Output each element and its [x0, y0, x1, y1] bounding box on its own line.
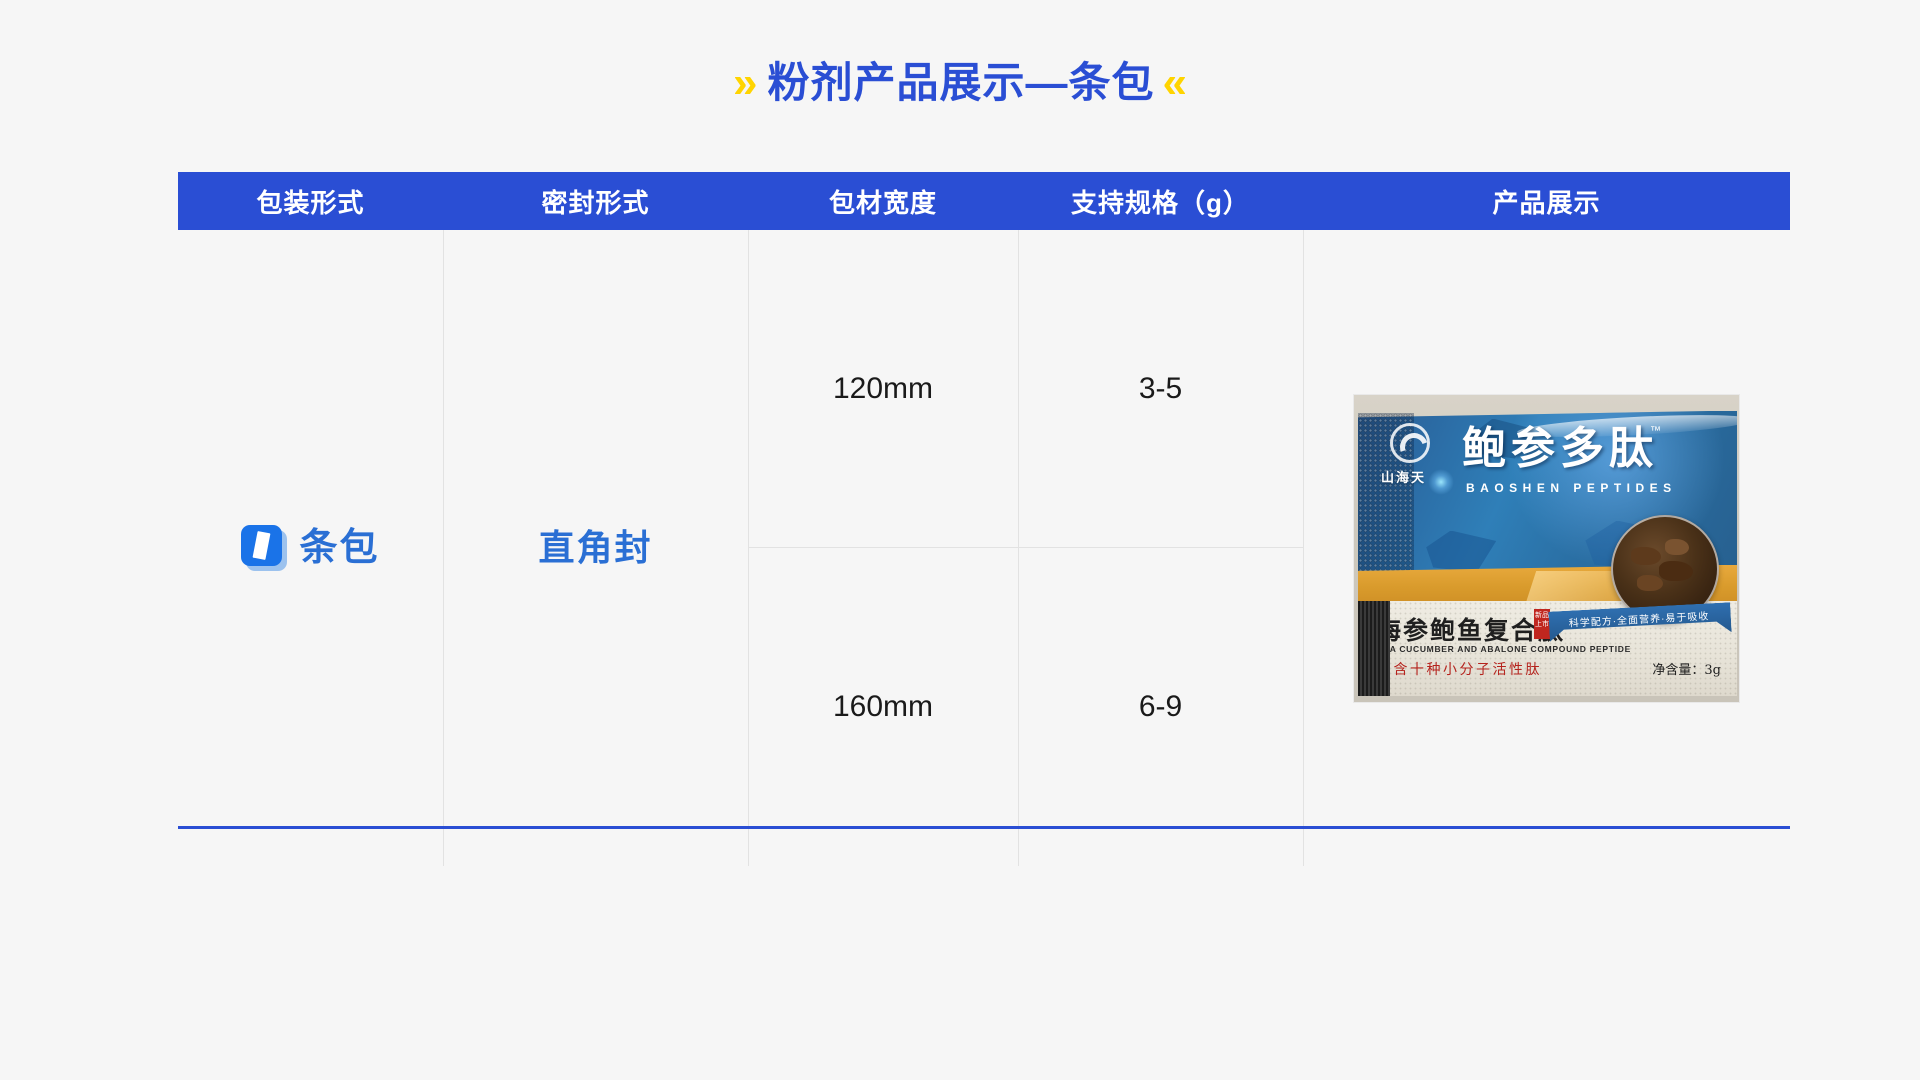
table-cell-product-display: 山海天 鲍参多肽 ™ BAOSHEN PEPTIDES 海参鲍鱼复合肽 新品上市 — [1303, 230, 1790, 866]
product-subtitle-en: SEA CUCUMBER AND ABALONE COMPOUND PEPTID… — [1377, 644, 1631, 654]
table-row: 3-5 — [1018, 230, 1303, 548]
spec-table: 包装形式 密封形式 包材宽度 支持规格（g） 产品展示 — [178, 172, 1790, 866]
tear-strip — [1358, 601, 1390, 696]
material-width-value-1: 120mm — [833, 374, 933, 404]
new-product-stamp: 新品上市 — [1534, 609, 1550, 639]
column-header-material-width: 包材宽度 — [748, 183, 1018, 220]
table-row: 6-9 — [1018, 548, 1303, 866]
product-name-en: BAOSHEN PEPTIDES — [1466, 481, 1677, 495]
table-row: 160mm — [748, 548, 1018, 866]
material-width-value-2: 160mm — [833, 692, 933, 722]
table-cell-material-width: 120mm 160mm — [748, 230, 1018, 866]
stick-pack-icon — [241, 525, 287, 571]
chevron-right-double-icon-left: » — [733, 61, 757, 105]
bottom-divider — [178, 826, 1790, 829]
net-weight-label: 净含量：3g — [1652, 659, 1721, 678]
table-row: 120mm — [748, 230, 1018, 548]
chevron-left-double-icon-right: « — [1163, 61, 1187, 105]
supported-grams-value-2: 6-9 — [1139, 692, 1182, 722]
table-body: 条包 直角封 120mm 160mm — [178, 230, 1790, 866]
table-cell-packaging-form: 条包 — [178, 230, 443, 866]
seal-form-text: 直角封 — [538, 530, 652, 566]
packaging-form-label: 条包 — [241, 525, 379, 571]
brand-name-cn: 山海天 — [1381, 467, 1426, 486]
sparkle-icon — [1428, 469, 1454, 495]
trademark-symbol: ™ — [1650, 425, 1661, 437]
page-title-text: 粉剂产品展示—条包 — [767, 62, 1154, 104]
supported-grams-value-1: 3-5 — [1139, 374, 1182, 404]
product-feature-cn: 内含十种小分子活性肽 — [1377, 659, 1542, 679]
page-title: » 粉剂产品展示—条包 « — [0, 52, 1920, 114]
table-header-row: 包装形式 密封形式 包材宽度 支持规格（g） 产品展示 — [178, 172, 1790, 230]
brand-logo-icon — [1390, 423, 1430, 463]
column-header-product-display: 产品展示 — [1303, 183, 1790, 220]
column-header-packaging-form: 包装形式 — [178, 183, 443, 220]
column-header-seal-form: 密封形式 — [443, 183, 748, 220]
table-cell-supported-spec: 3-5 6-9 — [1018, 230, 1303, 866]
table-cell-seal-form: 直角封 — [443, 230, 748, 866]
slide-page: » 粉剂产品展示—条包 « 包装形式 密封形式 包材宽度 支持规格（g） 产品展… — [0, 0, 1920, 1080]
packaging-form-text: 条包 — [299, 529, 379, 567]
column-header-supported-spec: 支持规格（g） — [1018, 183, 1303, 220]
product-name-cn: 鲍参多肽 — [1462, 427, 1658, 471]
product-photo: 山海天 鲍参多肽 ™ BAOSHEN PEPTIDES 海参鲍鱼复合肽 新品上市 — [1354, 395, 1739, 702]
